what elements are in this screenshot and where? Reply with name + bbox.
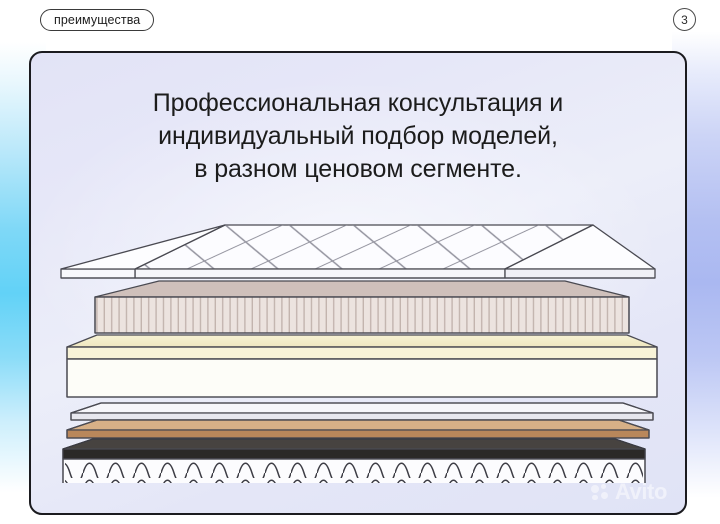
headline-line-1: Профессиональная консультация и — [31, 87, 685, 120]
page-number-badge: 3 — [673, 8, 696, 31]
avito-watermark: Avito — [591, 481, 667, 503]
mattress-layers-illustration — [31, 223, 685, 483]
headline-line-2: индивидуальный подбор моделей, — [31, 120, 685, 153]
avito-brand-text: Avito — [615, 481, 667, 503]
headline-line-3: в разном ценовом сегменте. — [31, 153, 685, 186]
section-badge-advantages[interactable]: преимущества — [40, 9, 154, 31]
page-root: преимущества 3 Профессиональная консульт… — [0, 0, 720, 524]
avito-dots-logo-icon — [591, 484, 610, 501]
top-bar: преимущества 3 — [0, 0, 720, 46]
headline-text: Профессиональная консультация и индивиду… — [31, 87, 685, 186]
slide-card: Профессиональная консультация и индивиду… — [29, 51, 687, 515]
